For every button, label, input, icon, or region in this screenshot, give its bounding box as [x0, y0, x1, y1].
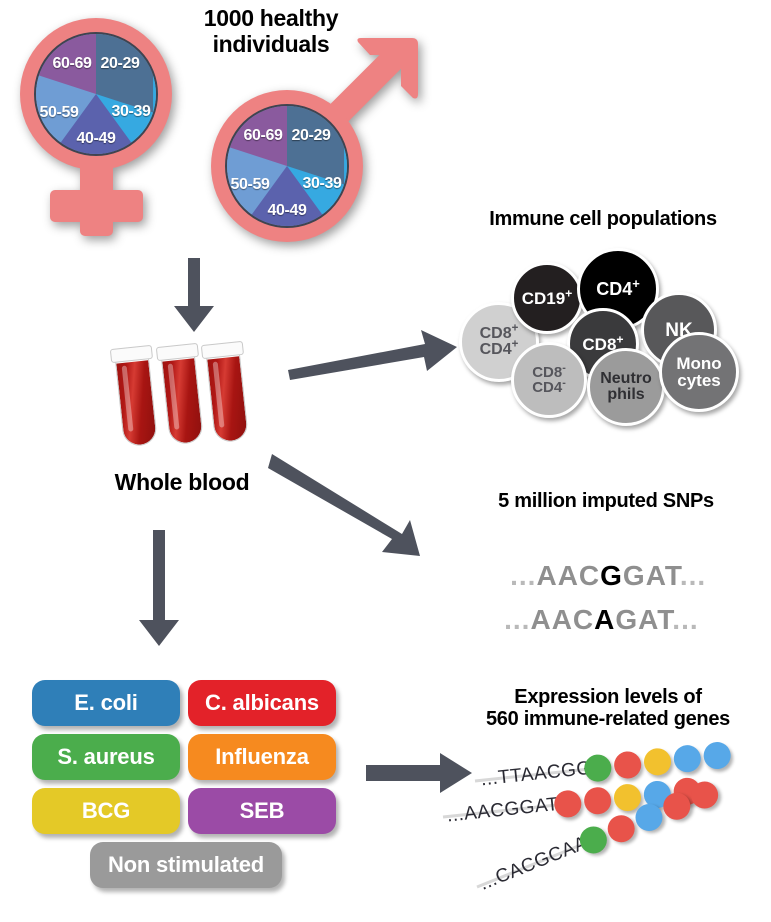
expression-bead [631, 800, 666, 835]
expression-bead [604, 811, 639, 846]
snp-right-bases: GAT [615, 604, 672, 635]
expression-bead [659, 789, 694, 824]
cell-label-line: Mono [676, 355, 721, 372]
stimulus-bcg[interactable]: BCG [32, 788, 180, 834]
expression-title-line1: Expression levels of [455, 686, 761, 708]
pie-label-60-69: 60-69 [244, 127, 283, 145]
cell-label-line: CD8- [532, 365, 566, 380]
arrow-right-blood-to-cells [285, 325, 460, 380]
stimulus-e-coli[interactable]: E. coli [32, 680, 180, 726]
arrow-diagonal-blood-to-snps [268, 452, 443, 557]
stimulus-influenza[interactable]: Influenza [188, 734, 336, 780]
arrow-down-blood-to-stimuli [133, 530, 185, 648]
expression-bead [643, 747, 673, 777]
pie-label-40-49: 40-49 [268, 202, 307, 220]
snps-title: 5 million imputed SNPs [461, 490, 751, 512]
immune-cell-cluster: CD8+ CD4+ CD19+ CD4+ NK CD8+ CD8- CD4- N… [453, 240, 753, 425]
gene-expression-strands: ...TTAACGG ...AACGGAT ...CACGCAA [455, 744, 765, 914]
pie-label-60-69: 60-69 [53, 55, 92, 73]
snp-sequences: ...AACGGAT... ...AACAGAT... [461, 528, 751, 618]
blood-tube-body [114, 348, 158, 447]
snp-prefix: ... [504, 604, 530, 635]
immune-cell-populations-title: Immune cell populations [453, 208, 753, 230]
stimulus-seb[interactable]: SEB [188, 788, 336, 834]
arrow-down-cohort-to-blood [168, 258, 220, 334]
female-symbol-stem-horizontal [50, 190, 143, 222]
blood-tube-body [160, 346, 204, 445]
pie-label-20-29: 20-29 [101, 55, 140, 73]
expression-title: Expression levels of 560 immune-related … [455, 686, 761, 731]
stimulus-c-albicans[interactable]: C. albicans [188, 680, 336, 726]
expression-bead [702, 741, 732, 771]
stimulus-non-stimulated[interactable]: Non stimulated [90, 842, 282, 888]
immune-cell-neutrophils: Neutro phils [587, 348, 665, 426]
expression-bead [672, 744, 702, 774]
blood-tube [114, 348, 158, 447]
dna-sequence-label: ...TTAACGG [480, 758, 593, 792]
expression-bead [583, 786, 613, 816]
stimulus-s-aureus[interactable]: S. aureus [32, 734, 180, 780]
snp-suffix: ... [672, 604, 698, 635]
snp-sequence-row: ...AACAGAT... [469, 572, 699, 668]
snp-left-bases: AAC [530, 604, 594, 635]
cell-label-line: CD4+ [480, 342, 519, 358]
blood-tube [205, 344, 249, 443]
immune-cell-cd8n-cd4n: CD8- CD4- [511, 342, 587, 418]
blood-tube-body [205, 344, 249, 443]
dna-sequence-label: ...CACGCAA [477, 832, 592, 895]
stimulation-conditions: E. coli C. albicans S. aureus Influenza … [32, 680, 352, 892]
whole-blood-label: Whole blood [72, 470, 292, 496]
cell-label-line: CD4- [532, 380, 566, 395]
snp-variant-base: A [594, 604, 615, 635]
pie-label-40-49: 40-49 [77, 130, 116, 148]
pie-label-30-39: 30-39 [112, 103, 151, 121]
male-gender-symbol: 20-29 30-39 40-49 50-59 60-69 [203, 36, 421, 246]
expression-bead [687, 777, 722, 812]
cell-label-line: CD4+ [596, 280, 640, 298]
whole-blood-tubes [108, 338, 258, 448]
expression-title-line2: 560 immune-related genes [455, 708, 761, 730]
dna-sequence-label: ...AACGGAT [446, 794, 560, 828]
cell-label-line: Neutro [600, 371, 652, 387]
pie-label-30-39: 30-39 [303, 175, 342, 193]
cell-label-line: CD19+ [522, 290, 573, 307]
cell-label-line: phils [607, 387, 644, 403]
immune-cell-monocytes: Mono cytes [659, 332, 739, 412]
pie-label-50-59: 50-59 [231, 176, 270, 194]
female-gender-symbol: 20-29 30-39 40-49 50-59 60-69 [12, 12, 180, 237]
pie-label-50-59: 50-59 [40, 104, 79, 122]
expression-bead [613, 750, 643, 780]
cohort-title-line1: 1000 healthy [178, 6, 364, 32]
blood-tube [160, 346, 204, 445]
cell-label-line: cytes [677, 372, 720, 389]
pie-label-20-29: 20-29 [292, 127, 331, 145]
